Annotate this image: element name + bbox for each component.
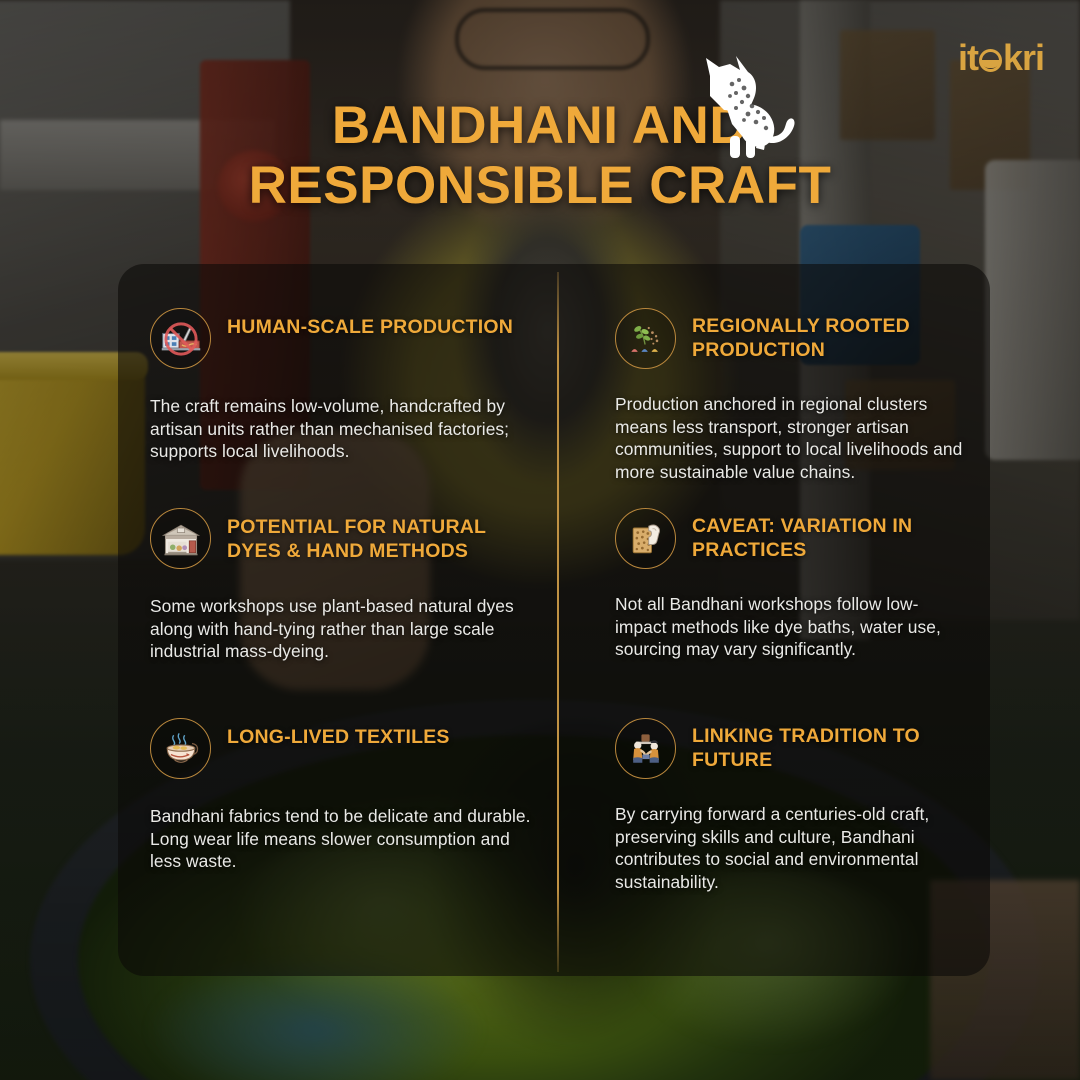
card-body: Some workshops use plant-based natural d… <box>150 595 535 663</box>
workshop-building-icon <box>150 508 211 569</box>
hand-holding-fabric-icon <box>615 508 676 569</box>
card-regionally-rooted-production: REGIONALLY ROOTED PRODUCTION Production … <box>557 264 990 464</box>
page-title-line-2: RESPONSIBLE CRAFT <box>0 156 1080 216</box>
card-body: Bandhani fabrics tend to be delicate and… <box>150 805 535 873</box>
two-artisans-icon <box>615 718 676 779</box>
card-title: LONG-LIVED TEXTILES <box>227 716 450 750</box>
no-factory-icon <box>150 308 211 369</box>
card-header: HUMAN-SCALE PRODUCTION <box>150 306 535 369</box>
card-title: REGIONALLY ROOTED PRODUCTION <box>692 306 968 363</box>
brand-logo-text-left: it <box>958 37 978 78</box>
card-long-lived-textiles: LONG-LIVED TEXTILES Bandhani fabrics ten… <box>118 674 557 976</box>
card-caveat-variation-in-practices: CAVEAT: VARIATION IN PRACTICES Not all B… <box>557 464 990 674</box>
card-header: POTENTIAL FOR NATURAL DYES & HAND METHOD… <box>150 506 535 569</box>
card-header: CAVEAT: VARIATION IN PRACTICES <box>615 506 968 569</box>
card-header: LONG-LIVED TEXTILES <box>150 716 535 779</box>
card-natural-dyes-hand-methods: POTENTIAL FOR NATURAL DYES & HAND METHOD… <box>118 464 557 674</box>
card-body: By carrying forward a centuries-old craf… <box>615 803 968 894</box>
seedling-dye-powders-icon <box>615 308 676 369</box>
page-title-line-1: BANDHANI AND <box>0 96 1080 156</box>
card-title: LINKING TRADITION TO FUTURE <box>692 716 968 773</box>
card-title: POTENTIAL FOR NATURAL DYES & HAND METHOD… <box>227 506 535 564</box>
brand-logo-basket-o-icon <box>979 49 1002 72</box>
card-title: CAVEAT: VARIATION IN PRACTICES <box>692 506 968 563</box>
card-header: REGIONALLY ROOTED PRODUCTION <box>615 306 968 369</box>
card-body: Not all Bandhani workshops follow low-im… <box>615 593 968 661</box>
card-header: LINKING TRADITION TO FUTURE <box>615 716 968 779</box>
brand-logo-text-right: kri <box>1003 37 1044 78</box>
brand-logo[interactable]: itkri <box>958 40 1044 76</box>
card-human-scale-production: HUMAN-SCALE PRODUCTION The craft remains… <box>118 264 557 464</box>
card-title: HUMAN-SCALE PRODUCTION <box>227 306 513 340</box>
cat-illustration-icon <box>686 50 806 160</box>
page-title: BANDHANI AND RESPONSIBLE CRAFT <box>0 96 1080 216</box>
steaming-dye-pot-icon <box>150 718 211 779</box>
cards-grid: HUMAN-SCALE PRODUCTION The craft remains… <box>118 264 990 976</box>
card-linking-tradition-to-future: LINKING TRADITION TO FUTURE By carrying … <box>557 674 990 976</box>
card-body: The craft remains low-volume, handcrafte… <box>150 395 535 463</box>
